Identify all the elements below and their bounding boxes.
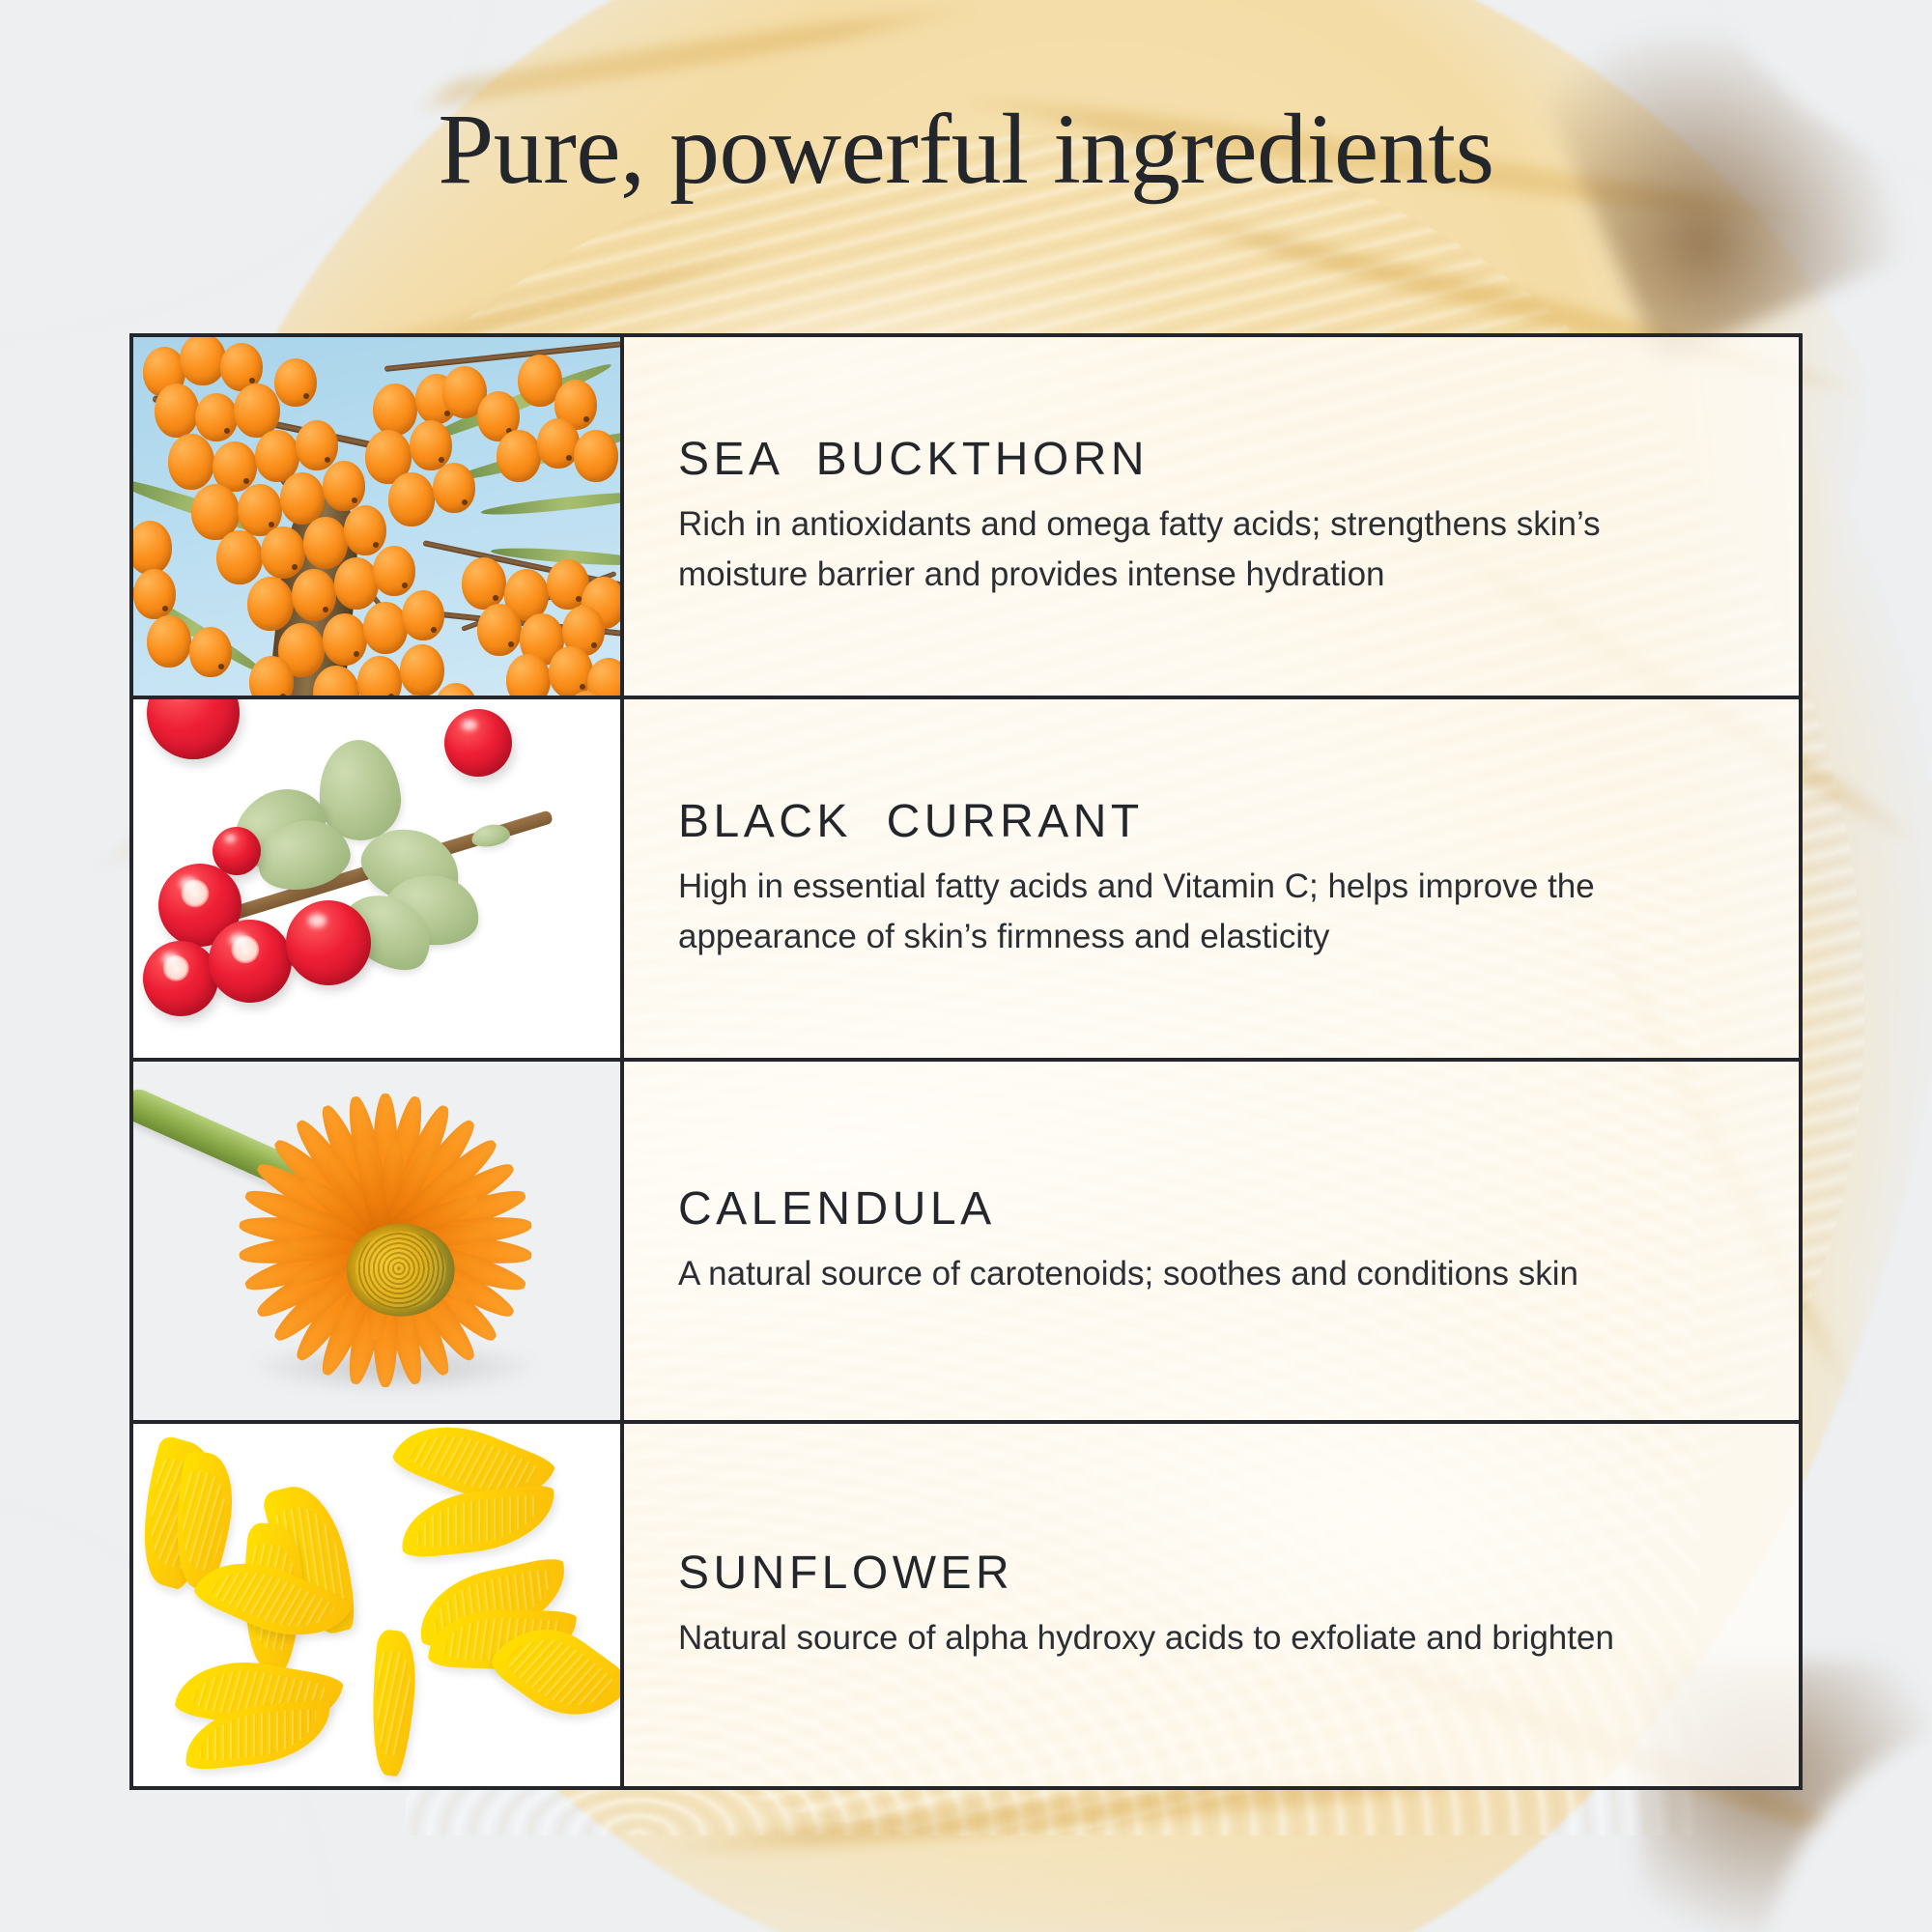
- ingredient-description: High in essential fatty acids and Vitami…: [678, 862, 1731, 963]
- ingredient-name: CALENDULA: [678, 1182, 1745, 1236]
- berry: [388, 472, 435, 526]
- berry: [296, 420, 338, 470]
- berry: [147, 615, 191, 668]
- berry: [574, 430, 618, 482]
- berry: [433, 463, 475, 513]
- ingredient-copy-sunflower: SUNFLOWER Natural source of alpha hydrox…: [624, 1424, 1799, 1786]
- ingredient-name: BLACK CURRANT: [678, 795, 1745, 848]
- ingredient-image-black-currant: [133, 699, 624, 1058]
- berry: [444, 709, 512, 777]
- berry: [247, 577, 294, 631]
- ingredient-copy-sea-buckthorn: SEA BUCKTHORN Rich in antioxidants and o…: [624, 337, 1799, 696]
- berry: [323, 613, 367, 666]
- berry: [209, 920, 292, 1003]
- berry: [168, 434, 214, 490]
- table-row: SEA BUCKTHORN Rich in antioxidants and o…: [133, 337, 1799, 699]
- ingredient-image-sea-buckthorn: [133, 337, 624, 696]
- table-row: CALENDULA A natural source of carotenoid…: [133, 1062, 1799, 1424]
- berry: [292, 569, 336, 621]
- ingredient-name: SEA BUCKTHORN: [678, 433, 1745, 486]
- berry: [189, 627, 232, 677]
- ingredient-image-sunflower: [133, 1424, 624, 1786]
- berry: [280, 472, 325, 525]
- berry: [195, 393, 238, 441]
- page-title: Pure, powerful ingredients: [0, 97, 1932, 202]
- berry: [303, 517, 348, 569]
- berry: [143, 941, 218, 1016]
- berry: [410, 420, 452, 470]
- berry: [261, 526, 305, 579]
- berry: [274, 358, 317, 407]
- berry: [462, 557, 506, 610]
- table-row: SUNFLOWER Natural source of alpha hydrox…: [133, 1424, 1799, 1786]
- table-row: BLACK CURRANT High in essential fatty ac…: [133, 699, 1799, 1062]
- berry: [334, 557, 379, 610]
- berry: [155, 384, 199, 438]
- flower-icon: [228, 1085, 543, 1396]
- berry: [400, 644, 444, 696]
- berry: [286, 900, 371, 985]
- berry: [323, 461, 365, 511]
- berry: [180, 337, 226, 385]
- berry: [216, 530, 263, 584]
- ingredient-description: Rich in antioxidants and omega fatty aci…: [678, 499, 1731, 601]
- ingredient-description: Natural source of alpha hydroxy acids to…: [678, 1613, 1731, 1664]
- ingredient-name: SUNFLOWER: [678, 1547, 1745, 1600]
- flower-center: [347, 1224, 455, 1317]
- ingredient-description: A natural source of carotenoids; soothes…: [678, 1249, 1731, 1300]
- ingredient-copy-calendula: CALENDULA A natural source of carotenoid…: [624, 1062, 1799, 1420]
- berry: [477, 604, 522, 656]
- ingredient-copy-black-currant: BLACK CURRANT High in essential fatty ac…: [624, 699, 1799, 1058]
- berry: [373, 546, 415, 596]
- berry: [549, 646, 593, 696]
- berry: [373, 384, 417, 436]
- berry: [363, 602, 408, 654]
- ingredient-image-calendula: [133, 1062, 624, 1420]
- berry: [344, 505, 386, 555]
- berry: [402, 590, 444, 640]
- berry: [133, 569, 176, 619]
- berry: [497, 430, 541, 482]
- ingredients-table: SEA BUCKTHORN Rich in antioxidants and o…: [129, 333, 1803, 1790]
